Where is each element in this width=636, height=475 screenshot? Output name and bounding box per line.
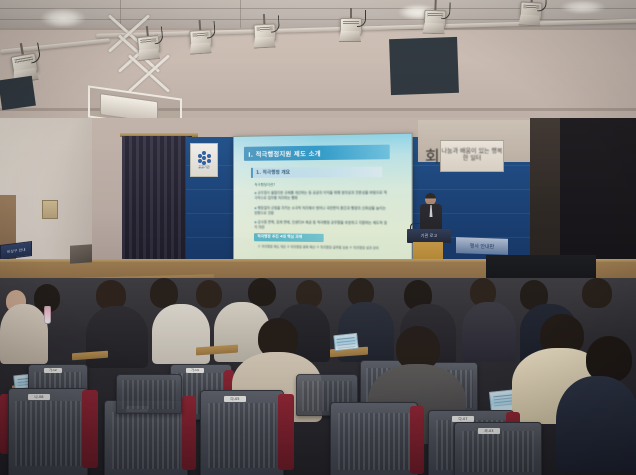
ceiling-downlight <box>560 0 606 14</box>
seat-side-panel <box>410 406 424 474</box>
stage-spotlight <box>253 21 276 48</box>
calligraphy-banner: 나눔과 배움이 있는 행복한 일터 <box>440 140 504 172</box>
slide-bullet-text: 공무원이 불합리한 규제를 개선하는 등 공공의 이익을 위해 창의성과 전문성… <box>254 191 387 201</box>
slide-lead-text: 적극행정이란? <box>254 182 275 187</box>
seat-number-label: 가-12 <box>44 368 62 373</box>
slide-bullet-text: 감사원 면책, 징계 면제, 인센티브 제공 등 적극행정 공무원을 보호하고 … <box>254 220 387 229</box>
stage-monitor-speaker <box>70 244 92 264</box>
slide-subtitle: 1. 적극행정 개요 <box>256 169 290 175</box>
audience-person <box>86 306 148 368</box>
audience-head <box>248 278 276 306</box>
podium-top: 기관 로고 <box>407 229 451 243</box>
auditorium-seat <box>330 402 418 475</box>
flower-emblem-icon <box>198 151 211 164</box>
audience-head <box>196 280 222 308</box>
slide-title: Ⅰ. 적극행정지원 제도 소개 <box>248 148 321 158</box>
acoustic-panel <box>0 76 36 110</box>
seat-side-panel <box>182 396 196 470</box>
seat-number-label: 라-03 <box>478 428 500 434</box>
slide-surface: Ⅰ. 적극행정지원 제도 소개 1. 적극행정 개요 적극행정이란? ▪공무원이… <box>234 134 412 267</box>
bullet-marker-icon: ▪ <box>254 206 256 210</box>
banner-character: 회 <box>425 143 440 167</box>
slide-bullet: ▪행정절차·규정을 지키는 소극적 처리에서 벗어나 국민편익 증진과 행정의 … <box>254 206 389 217</box>
exit-sign-label: 비상구 안내 <box>7 247 26 255</box>
stage-spotlight <box>137 33 162 61</box>
event-info-sign-label: 행사 안내판 <box>470 242 494 250</box>
slide-bullet: ▪감사원 면책, 징계 면제, 인센티브 제공 등 적극행정 공무원을 보호하고… <box>254 220 389 231</box>
slide-bullet: ▪공무원이 불합리한 규제를 개선하는 등 공공의 이익을 위해 창의성과 전문… <box>254 191 389 202</box>
audience-area: 가-12 가-14 나-08 나-10 다-05 다-07 <box>0 278 636 475</box>
slide-title-bar: Ⅰ. 적극행정지원 제도 소개 <box>244 145 389 161</box>
slide-highlight-box: 적극행정 추진 4대 핵심 과제 <box>254 233 324 242</box>
calligraphy-banner-text: 나눔과 배움이 있는 행복한 일터 <box>441 149 503 162</box>
seat-side-panel <box>278 394 294 470</box>
audience-person <box>556 376 636 472</box>
stage-spotlight <box>189 27 213 54</box>
audience-person <box>0 304 48 364</box>
institution-logo-banner: 공공기관 <box>190 143 218 177</box>
wall-plate <box>42 200 58 219</box>
auditorium-seat <box>200 390 284 475</box>
seat-number-label: 다-05 <box>224 396 246 402</box>
auditorium-seat <box>116 374 182 414</box>
audience-person <box>462 302 516 362</box>
stage-spotlight <box>340 16 362 42</box>
bullet-marker-icon: ▪ <box>254 220 256 224</box>
seat-number-label: 나-08 <box>28 394 50 400</box>
auditorium-photo: 비상구 안내 공공기관 회 나눔과 배움이 있는 행복한 일터 행사 안내판 <box>0 0 636 475</box>
acoustic-panel <box>389 37 459 95</box>
podium-logo-label: 기관 로고 <box>421 233 438 239</box>
stage-spotlight <box>519 0 542 27</box>
event-info-sign: 행사 안내판 <box>456 237 508 255</box>
slide-highlight-text: 적극행정 추진 4대 핵심 과제 <box>257 235 302 241</box>
bullet-marker-icon: ▪ <box>254 191 256 195</box>
auditorium-seat <box>8 388 88 475</box>
audience-head <box>582 278 612 308</box>
projection-screen: Ⅰ. 적극행정지원 제도 소개 1. 적극행정 개요 적극행정이란? ▪공무원이… <box>233 133 413 268</box>
seat-side-panel <box>82 390 98 468</box>
handout-booklet <box>333 333 359 351</box>
slide-subtitle-bar: 1. 적극행정 개요 <box>251 166 382 177</box>
stage-spotlight <box>424 8 447 35</box>
logo-caption: 공공기관 <box>198 165 209 169</box>
seat-number-label: 가-14 <box>186 368 204 373</box>
slide-bullet-text: 행정절차·규정을 지키는 소극적 처리에서 벗어나 국민편익 증진과 행정의 신… <box>254 206 385 215</box>
water-bottle <box>44 306 51 324</box>
ceiling-downlight <box>40 8 86 28</box>
slide-footer-note: ① 적극행정 제도 개선 ② 적극행정 문화 확산 ③ 적극행정 공무원 보호 … <box>258 244 397 250</box>
ceiling-tile-seam <box>240 0 241 28</box>
